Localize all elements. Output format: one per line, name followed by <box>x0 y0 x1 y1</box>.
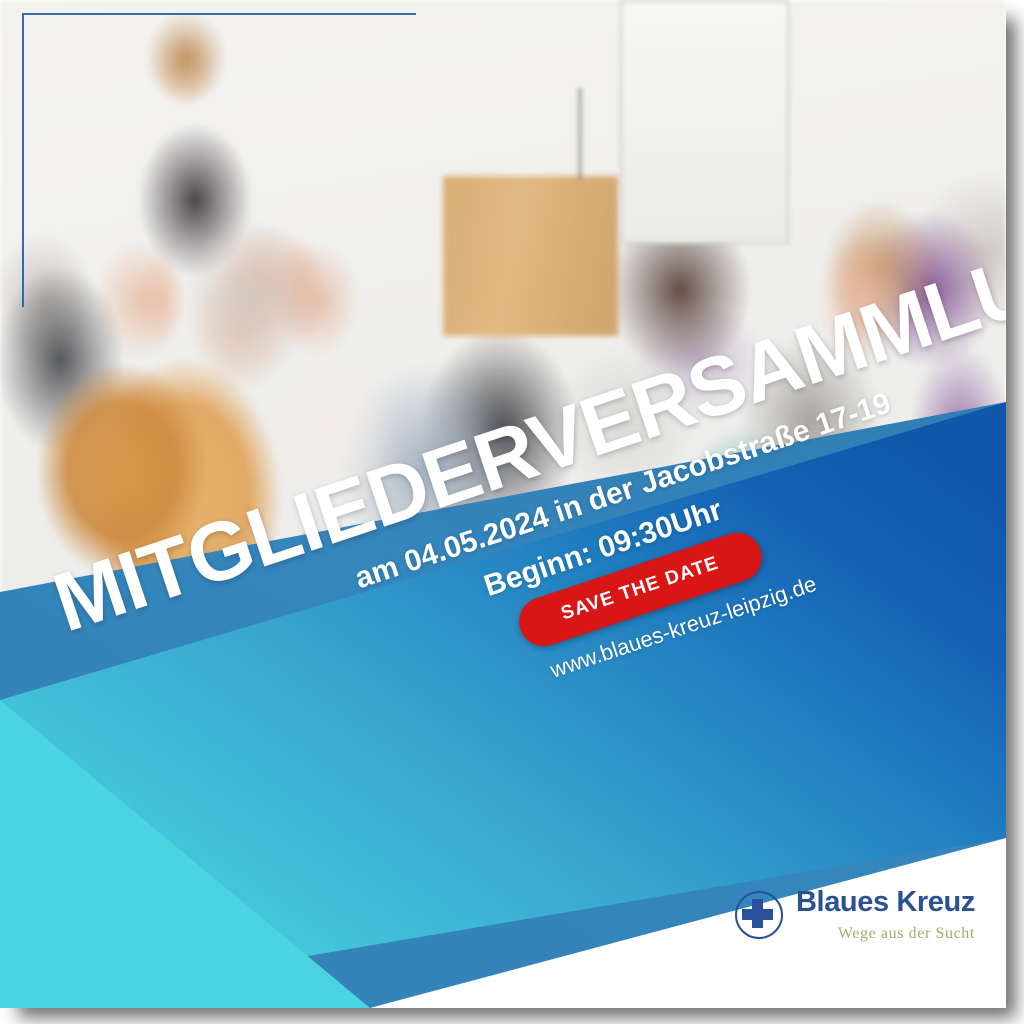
blaues-kreuz-logo: Blaues Kreuz Wege aus der Sucht <box>735 888 975 942</box>
logo-tagline: Wege aus der Sucht <box>838 926 975 942</box>
blue-cross-icon <box>735 891 783 939</box>
logo-name: Blaues Kreuz <box>796 888 975 917</box>
flyer-card: MITGLIEDERVERSAMMLUNG am 04.05.2024 in d… <box>0 0 1006 1008</box>
logo-text-group: Blaues Kreuz Wege aus der Sucht <box>796 888 975 942</box>
poster-canvas: MITGLIEDERVERSAMMLUNG am 04.05.2024 in d… <box>0 0 1024 1024</box>
